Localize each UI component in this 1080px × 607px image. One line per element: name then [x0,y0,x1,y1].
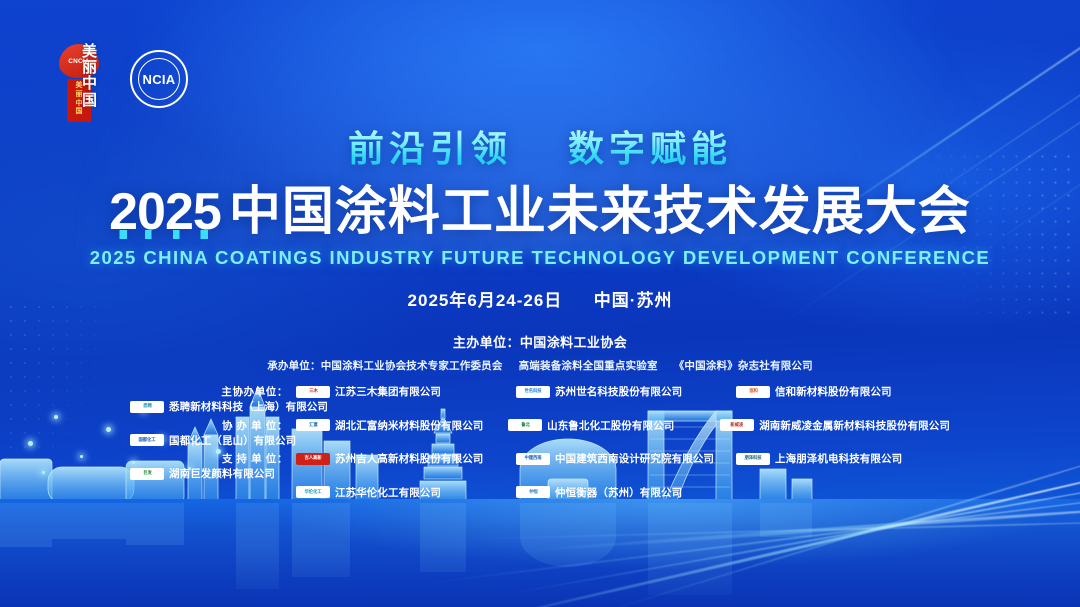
beautiful-china-vertical-text: 美 丽 中 国 [82,44,102,109]
sponsor-row: 主协办单位： 三木 江苏三木集团有限公司 世名科技 苏州世名科技股份有限公司 信… [130,384,950,414]
sponsor-item: 华伦化工 江苏华伦化工有限公司 [296,485,510,500]
host-organizer: 主办单位：中国涂料工业协会 [0,332,1080,351]
slogan-left: 前沿引领 [348,128,512,169]
ncia-association-logo: NCIA [130,50,188,108]
sponsor-logo-icon: 华伦化工 [296,486,330,498]
sponsor-name: 湖南巨发颜料有限公司 [169,466,275,481]
sponsor-item: 中建西南 中国建筑西南设计研究院有限公司 [516,451,730,466]
sponsor-item: 朋泽科技 上海朋泽机电科技有限公司 [736,451,950,466]
slogan-right: 数字赋能 [568,128,732,169]
sponsor-item: 鲁北 山东鲁北化工股份有限公司 [508,418,714,433]
sponsor-name: 苏州世名科技股份有限公司 [555,384,682,399]
sponsor-logo-icon: 世名科技 [516,386,550,398]
sponsor-logo-icon: 信和 [736,386,770,398]
sponsor-item: 仲恒 仲恒衡器（苏州）有限公司 [516,485,730,500]
co-organizers: 承办单位：中国涂料工业协会技术专家工作委员会高端装备涂料全国重点实验室《中国涂料… [0,358,1080,373]
co-organizer-2: 高端装备涂料全国重点实验室 [519,360,658,372]
date-location: 2025年6月24-26日 中国·苏州 [0,286,1080,311]
sponsor-name: 中国建筑西南设计研究院有限公司 [555,451,714,466]
beautiful-china-logo: CNCIA 美 丽 中 国 美 丽 中 国 [56,44,102,122]
sponsor-name: 苏州吉人高新材料股份有限公司 [335,451,483,466]
sponsor-list: 主协办单位： 三木 江苏三木集团有限公司 世名科技 苏州世名科技股份有限公司 信… [0,384,1080,500]
skyline-reflection [0,503,1080,607]
page-title: 2025中国涂料工业未来技术发展大会 [0,186,1080,238]
title-main: 中国涂料工业未来技术发展大会 [229,183,971,241]
co-organizer-1: 中国涂料工业协会技术专家工作委员会 [321,360,503,372]
band-char-4: 国 [67,108,91,117]
logo-group: CNCIA 美 丽 中 国 美 丽 中 国 NCIA [56,44,188,122]
sponsor-logo-icon: 吉人高新 [296,453,330,465]
sponsor-logo-icon: 三木 [296,386,330,398]
sponsor-logo-icon: 新威凌 [720,419,754,431]
sponsor-logo-icon: 仲恒 [516,486,550,498]
co-organizer-3: 《中国涂料》杂志社有限公司 [674,360,813,372]
sponsor-name: 悉聘新材料科技（上海）有限公司 [169,399,328,414]
sponsor-logo-icon: 鲁北 [508,419,542,431]
english-subtitle: 2025 CHINA COATINGS INDUSTRY FUTURE TECH… [0,247,1080,269]
title-year: 2025 [109,183,221,241]
slogan: 前沿引领 数字赋能 [0,120,1080,172]
sponsor-name: 上海朋泽机电科技有限公司 [775,451,902,466]
vchar-3: 中 [82,76,102,92]
sponsor-item: 世名科技 苏州世名科技股份有限公司 [516,384,730,399]
sponsor-logo-icon: 悉聘 [130,401,164,413]
sponsor-item: 吉人高新 苏州吉人高新材料股份有限公司 [296,451,510,466]
sponsor-row: 华伦化工 江苏华伦化工有限公司 仲恒 仲恒衡器（苏州）有限公司 [130,485,950,500]
sponsor-logo-icon: 中建西南 [516,453,550,465]
sponsor-item: 悉聘 悉聘新材料科技（上海）有限公司 [130,399,290,414]
sponsor-item: 国都化工 国都化工（昆山）有限公司 [130,433,290,448]
sponsor-item: 信和 信和新材料股份有限公司 [736,384,950,399]
sponsor-name: 国都化工（昆山）有限公司 [169,433,296,448]
sponsor-name: 信和新材料股份有限公司 [775,384,892,399]
sponsor-logo-icon: 国都化工 [130,434,164,446]
sponsor-name: 仲恒衡器（苏州）有限公司 [555,485,682,500]
event-date: 2025年6月24-26日 [408,291,563,310]
vchar-1: 美 [82,44,102,60]
sponsor-row-label: 支 持 单 位： [130,451,290,466]
sponsor-name: 湖南新威凌金属新材料科技股份有限公司 [759,418,950,433]
sponsor-name: 江苏华伦化工有限公司 [335,485,441,500]
sponsor-name: 江苏三木集团有限公司 [335,384,441,399]
sponsor-name: 山东鲁北化工股份有限公司 [547,418,674,433]
sponsor-row: 支 持 单 位： 吉人高新 苏州吉人高新材料股份有限公司 中建西南 中国建筑西南… [130,451,950,481]
ncia-logo-text: NCIA [143,72,176,87]
sponsor-item: 三木 江苏三木集团有限公司 [296,384,510,399]
vchar-4: 国 [82,93,102,109]
vchar-2: 丽 [82,60,102,76]
sponsor-row-label: 主协办单位： [130,384,290,399]
sponsor-item: 新威凌 湖南新威凌金属新材料科技股份有限公司 [720,418,950,433]
event-location: 中国·苏州 [594,291,673,310]
sponsor-logo-icon: 朋泽科技 [736,453,770,465]
sponsor-row: 协 办 单 位： 汇富 湖北汇富纳米材料股份有限公司 鲁北 山东鲁北化工股份有限… [130,418,950,448]
co-organizers-label: 承办单位： [267,360,321,372]
sponsor-row-label: 协 办 单 位： [130,418,290,433]
sponsor-item: 汇富 湖北汇富纳米材料股份有限公司 [296,418,502,433]
sponsor-logo-icon: 巨发 [130,468,164,480]
sponsor-logo-icon: 汇富 [296,419,330,431]
sponsor-item: 巨发 湖南巨发颜料有限公司 [130,466,290,481]
sponsor-name: 湖北汇富纳米材料股份有限公司 [335,418,483,433]
ground-plane [0,499,1080,607]
